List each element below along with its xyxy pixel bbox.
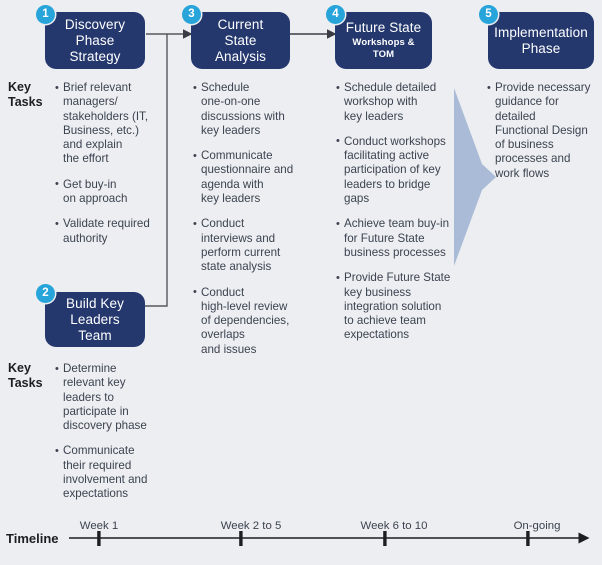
timeline-tick <box>383 531 386 546</box>
task-list-phase-4: Schedule detailed workshop with key lead… <box>336 81 461 343</box>
phase-box-current-state-analysis[interactable]: Current State Analysis <box>191 12 290 69</box>
timeline-tick <box>526 531 529 546</box>
phase-box-discovery-phase-strategy[interactable]: Discovery Phase Strategy <box>45 12 145 69</box>
task-list-phase-2: Determine relevant key leaders to partic… <box>55 362 155 502</box>
task-list-phase-5: Provide necessary guidance for detailed … <box>487 81 602 181</box>
task-item: Provide necessary guidance for detailed … <box>487 81 602 181</box>
task-item: Achieve team buy-in for Future State bus… <box>336 217 461 260</box>
timeline-tick <box>97 531 100 546</box>
task-item: Get buy-in on approach <box>55 178 153 207</box>
phase-badge-3: 3 <box>182 5 201 24</box>
phase-title-2: Build Key Leaders Team <box>66 296 124 344</box>
timeline-axis <box>0 505 602 565</box>
phase-title-3: Current State Analysis <box>215 17 266 65</box>
key-tasks-label-row1: Key Tasks <box>8 80 43 110</box>
phase-badge-5: 5 <box>479 5 498 24</box>
task-item: Schedule one-on-one discussions with key… <box>193 81 305 138</box>
task-item: Schedule detailed workshop with key lead… <box>336 81 461 124</box>
phase-title-1: Discovery Phase Strategy <box>65 17 125 65</box>
timeline-tick-label-1: Week 1 <box>80 520 118 532</box>
phase-box-build-key-leaders-team[interactable]: Build Key Leaders Team <box>45 292 145 347</box>
timeline-tick-label-3: Week 6 to 10 <box>361 520 428 532</box>
phase-badge-1: 1 <box>36 5 55 24</box>
task-list-phase-1: Brief relevant managers/ stakeholders (I… <box>55 81 153 246</box>
task-item: Determine relevant key leaders to partic… <box>55 362 155 433</box>
timeline-tick-label-4: On-going <box>514 520 561 532</box>
timeline-tick-label-2: Week 2 to 5 <box>221 520 282 532</box>
phase-subtitle-4: Workshops & TOM <box>341 37 426 61</box>
phase-box-implementation-phase[interactable]: Implementation Phase <box>488 12 594 69</box>
phase-badge-4: 4 <box>326 5 345 24</box>
phase-title-5: Implementation Phase <box>494 25 588 57</box>
task-item: Provide Future State key business integr… <box>336 271 461 342</box>
task-item: Validate required authority <box>55 217 153 246</box>
key-tasks-label-row2: Key Tasks <box>8 361 43 391</box>
phase-badge-2: 2 <box>36 284 55 303</box>
task-item: Brief relevant managers/ stakeholders (I… <box>55 81 153 167</box>
timeline-tick <box>239 531 242 546</box>
phase-box-future-state[interactable]: Future State Workshops & TOM <box>335 12 432 69</box>
task-list-phase-3: Schedule one-on-one discussions with key… <box>193 81 305 357</box>
phase-title-4: Future State <box>346 20 422 36</box>
diagram-canvas: 1 Discovery Phase Strategy Key Tasks Bri… <box>0 0 602 565</box>
task-item: Communicate questionnaire and agenda wit… <box>193 149 305 206</box>
task-item: Communicate their required involvement a… <box>55 444 155 501</box>
task-item: Conduct high-level review of dependencie… <box>193 286 305 357</box>
task-item: Conduct interviews and perform current s… <box>193 217 305 274</box>
task-item: Conduct workshops facilitating active pa… <box>336 135 461 206</box>
